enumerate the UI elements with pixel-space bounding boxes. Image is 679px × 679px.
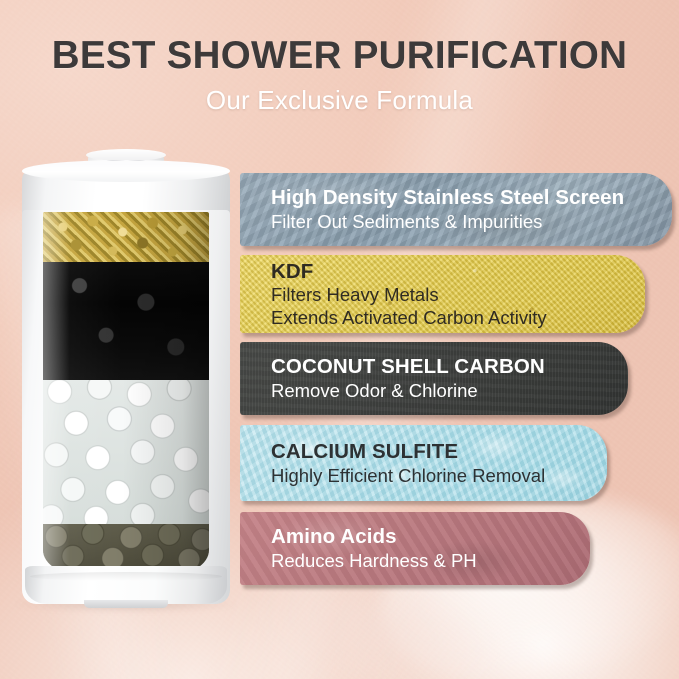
callout-subline: Remove Odor & Chlorine xyxy=(271,380,628,401)
media-layer-calcium-sulfite xyxy=(43,380,209,524)
filter-bottom-foot xyxy=(84,600,168,608)
callout-headline: KDF xyxy=(271,260,645,283)
infographic-canvas: BEST SHOWER PURIFICATION Our Exclusive F… xyxy=(0,0,679,679)
callout-headline: High Density Stainless Steel Screen xyxy=(271,186,672,209)
filter-housing-body xyxy=(22,210,230,604)
callout-subline: Filter Out Sediments & Impurities xyxy=(271,211,672,232)
page-title: BEST SHOWER PURIFICATION xyxy=(0,34,679,78)
media-layer-coconut-shell-carbon xyxy=(43,262,209,380)
callout-amino-acids: Amino Acids Reduces Hardness & PH xyxy=(240,512,590,585)
callout-kdf: KDF Filters Heavy Metals Extends Activat… xyxy=(240,255,645,333)
filter-bottom-cap-ring xyxy=(30,572,222,581)
callout-coconut-shell-carbon: COCONUT SHELL CARBON Remove Odor & Chlor… xyxy=(240,342,628,415)
callout-headline: CALCIUM SULFITE xyxy=(271,440,607,463)
callout-subline-2: Extends Activated Carbon Activity xyxy=(271,307,645,328)
callout-subline: Reduces Hardness & PH xyxy=(271,550,590,571)
callout-stainless-steel-screen: High Density Stainless Steel Screen Filt… xyxy=(240,173,672,246)
callout-headline: Amino Acids xyxy=(271,525,590,548)
media-layer-kdf xyxy=(43,212,209,262)
product-image-shower-filter xyxy=(22,152,230,604)
filter-media-window xyxy=(43,212,209,576)
filter-top-cap-rim xyxy=(22,160,230,182)
callout-subline: Filters Heavy Metals xyxy=(271,284,645,305)
callout-headline: COCONUT SHELL CARBON xyxy=(271,355,628,378)
page-subtitle: Our Exclusive Formula xyxy=(0,85,679,116)
callout-calcium-sulfite: CALCIUM SULFITE Highly Efficient Chlorin… xyxy=(240,425,607,501)
callout-subline: Highly Efficient Chlorine Removal xyxy=(271,465,607,486)
